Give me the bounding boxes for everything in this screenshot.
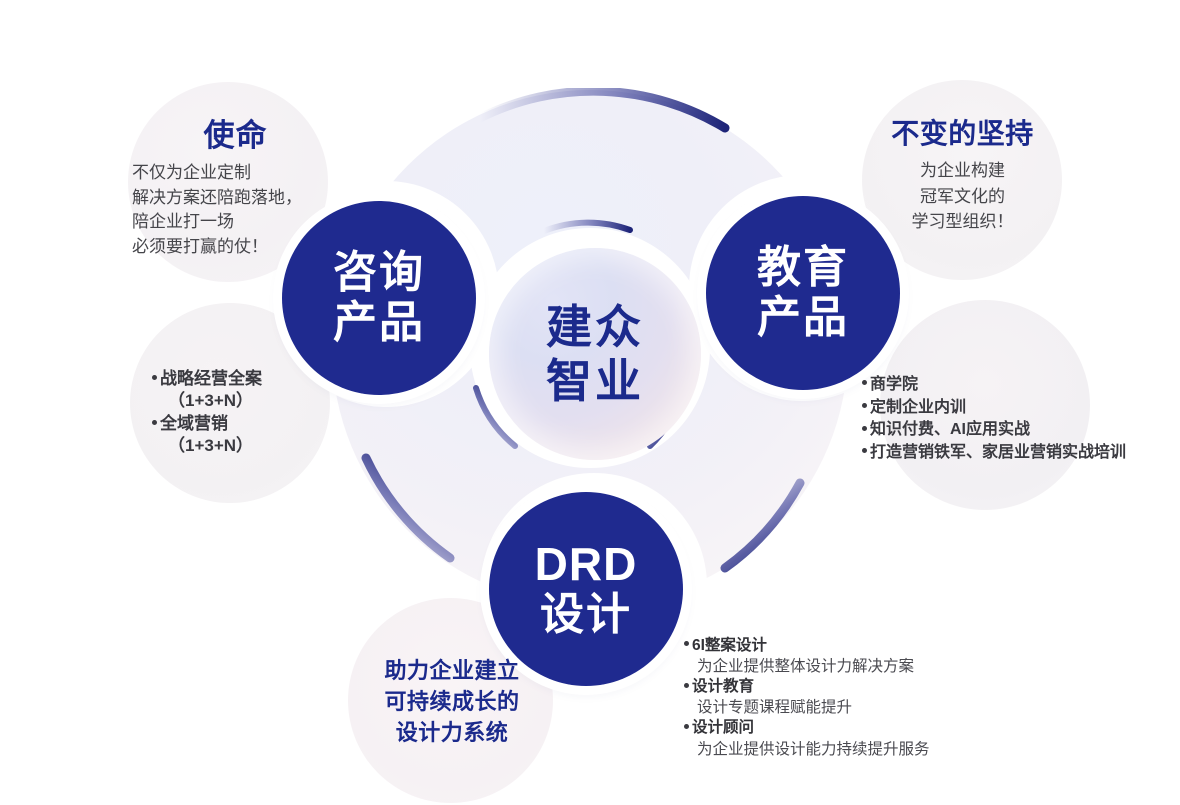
node-education-line2: 产品 (757, 294, 849, 342)
design-heading-line: 可持续成长的 (352, 686, 552, 717)
node-education-line1: 教育 (757, 244, 849, 292)
bullet-dot-icon (862, 426, 867, 431)
persistence-body: 为企业构建 冠军文化的 学习型组织！ (860, 158, 1065, 235)
list-item: 定制企业内训 (862, 397, 1180, 420)
list-item-sub: （1+3+N） (152, 435, 352, 457)
consulting-product-list: 战略经营全案 （1+3+N） 全域营销 （1+3+N） (152, 368, 352, 458)
list-item-desc: 设计专题课程赋能提升 (684, 697, 994, 718)
list-item: 设计教育 (684, 677, 994, 697)
node-consulting-line2: 产品 (333, 299, 425, 347)
mission-body-line: 陪企业打一场 (132, 210, 343, 235)
drd-design-list: 6I整案设计 为企业提供整体设计力解决方案 设计教育 设计专题课程赋能提升 设计… (684, 636, 994, 760)
node-consulting-line1: 咨询 (333, 249, 425, 297)
mission-body: 不仅为企业定制 解决方案还陪跑落地， 陪企业打一场 必须要打赢的仗！ (128, 161, 343, 260)
bullet-dot-icon (862, 448, 867, 453)
list-item-label: 打造营销铁军、家居业营销实战培训 (870, 444, 1126, 461)
list-item-label: 定制企业内训 (870, 399, 966, 416)
list-item: 战略经营全案 (152, 368, 352, 390)
design-system-heading: 助力企业建立 可持续成长的 设计力系统 (352, 655, 552, 749)
education-product-list: 商学院 定制企业内训 知识付费、AI应用实战 打造营销铁军、家居业营销实战培训 (862, 374, 1180, 465)
list-item-label: 6I整案设计 (692, 637, 767, 654)
bullet-dot-icon (152, 375, 157, 380)
bullet-dot-icon (862, 403, 867, 408)
mission-heading: 使命 (128, 110, 343, 155)
design-heading-line: 助力企业建立 (352, 655, 552, 686)
list-item-label: 知识付费、AI应用实战 (870, 421, 1030, 438)
infographic-canvas: 建众 智业 咨询 产品 教育 产品 DRD 设计 使命 不仅为企业定制 解决方案… (0, 0, 1180, 805)
persistence-heading: 不变的坚持 (860, 112, 1065, 152)
list-item-sub: （1+3+N） (152, 390, 352, 412)
list-item-desc: 为企业提供设计能力持续提升服务 (684, 739, 994, 760)
persistence-body-line: 为企业构建 (860, 158, 1065, 184)
list-item-label: 设计教育 (692, 678, 754, 695)
list-item: 6I整案设计 (684, 636, 994, 656)
center-label-line2: 智业 (546, 354, 644, 408)
bullet-dot-icon (152, 420, 157, 425)
node-drd-line1: DRD (535, 539, 638, 590)
persistence-body-line: 学习型组织！ (860, 209, 1065, 235)
bullet-dot-icon (684, 724, 689, 729)
list-item-label: 全域营销 (160, 414, 228, 433)
list-item-label: 商学院 (870, 376, 918, 393)
list-item-label: 设计顾问 (692, 719, 754, 736)
node-drd-line2: 设计 (540, 591, 632, 639)
mission-body-line: 不仅为企业定制 (132, 161, 343, 186)
bullet-dot-icon (684, 641, 689, 646)
list-item: 全域营销 (152, 413, 352, 435)
list-item: 知识付费、AI应用实战 (862, 419, 1180, 442)
list-item-label: 战略经营全案 (160, 369, 262, 388)
list-item: 商学院 (862, 374, 1180, 397)
bullet-dot-icon (684, 683, 689, 688)
list-item: 设计顾问 (684, 718, 994, 738)
center-label-line1: 建众 (546, 300, 644, 354)
center-core: 建众 智业 (489, 248, 701, 460)
persistence-body-line: 冠军文化的 (860, 184, 1065, 210)
design-heading-line: 设计力系统 (352, 717, 552, 748)
mission-body-line: 必须要打赢的仗！ (132, 235, 343, 260)
persistence-block: 不变的坚持 为企业构建 冠军文化的 学习型组织！ (860, 112, 1065, 235)
bullet-dot-icon (862, 380, 867, 385)
list-item-desc: 为企业提供整体设计力解决方案 (684, 656, 994, 677)
mission-block: 使命 不仅为企业定制 解决方案还陪跑落地， 陪企业打一场 必须要打赢的仗！ (128, 110, 343, 260)
list-item: 打造营销铁军、家居业营销实战培训 (862, 442, 1180, 465)
mission-body-line: 解决方案还陪跑落地， (132, 186, 343, 211)
